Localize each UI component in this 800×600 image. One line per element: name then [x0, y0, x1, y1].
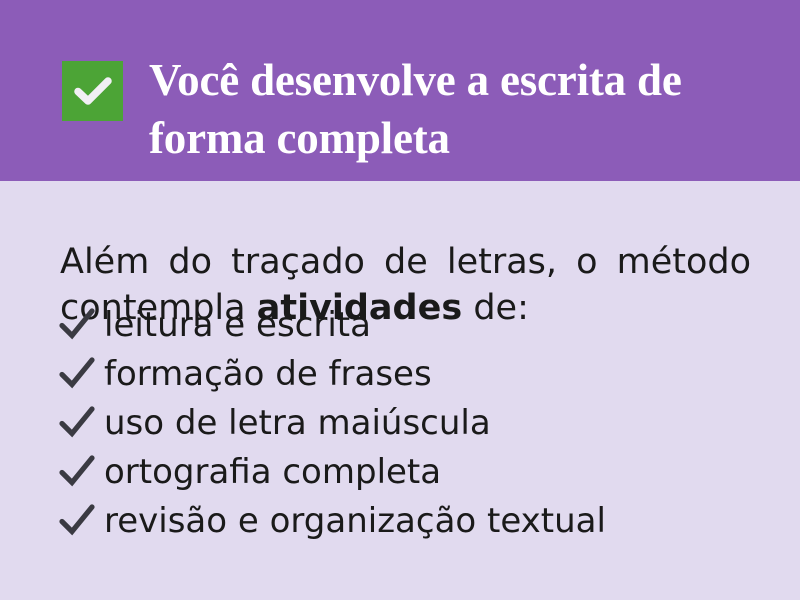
checkbox-checked-icon: [62, 61, 123, 121]
check-mark-icon: [58, 403, 96, 441]
check-mark-icon: [58, 501, 96, 539]
info-card: Você desenvolve a escrita de forma compl…: [0, 0, 800, 600]
check-mark-icon: [58, 354, 96, 392]
check-mark-icon: [58, 452, 96, 490]
list-item-label: uso de letra maiúscula: [104, 406, 491, 440]
list-item: ortografia completa: [58, 446, 758, 495]
header-title: Você desenvolve a escrita de forma compl…: [149, 52, 682, 167]
list-item-label: formação de frases: [104, 357, 432, 391]
list-item-label: ortografia completa: [104, 455, 441, 489]
list-item: leitura e escrita: [58, 299, 758, 348]
list-item-label: leitura e escrita: [104, 308, 371, 342]
header-content: Você desenvolve a escrita de forma compl…: [62, 52, 760, 167]
check-mark-icon: [58, 305, 96, 343]
activities-list: leitura e escrita formação de frases uso…: [58, 299, 758, 544]
list-item: formação de frases: [58, 348, 758, 397]
list-item: revisão e organização textual: [58, 495, 758, 544]
list-item: uso de letra maiúscula: [58, 397, 758, 446]
card-body: Além do traçado de letras, o método cont…: [0, 181, 800, 600]
card-header: Você desenvolve a escrita de forma compl…: [0, 0, 800, 181]
list-item-label: revisão e organização textual: [104, 504, 606, 538]
